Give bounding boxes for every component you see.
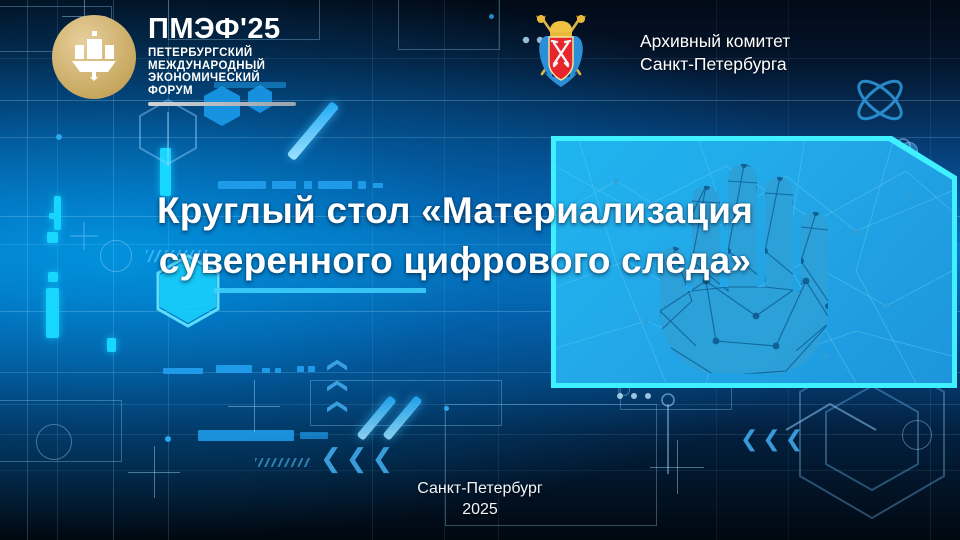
slide-footer-location-year: Санкт-Петербург 2025 — [0, 478, 960, 520]
organization-name: Архивный комитет Санкт-Петербурга — [640, 30, 790, 76]
spief-subtitle: ПЕТЕРБУРГСКИЙ МЕЖДУНАРОДНЫЙ ЭКОНОМИЧЕСКИ… — [148, 47, 296, 97]
chevron-down-group: ❮❮❮ — [328, 357, 348, 419]
presentation-slide: ❮❮❮ ❮❮❮ ❮❮❮ — [0, 0, 960, 540]
spief-wordmark: ПМЭФ'25 — [148, 14, 296, 44]
slide-header: ПМЭФ'25 ПЕТЕРБУРГСКИЙ МЕЖДУНАРОДНЫЙ ЭКОН… — [0, 0, 960, 118]
chevron-left-group-2: ❮❮❮ — [740, 428, 807, 450]
spief-rule — [148, 102, 296, 106]
saint-petersburg-coat-of-arms-icon — [530, 12, 592, 92]
sailing-ship-icon — [68, 30, 120, 82]
chevron-left-group: ❮❮❮ — [320, 445, 397, 471]
spief-logo: ПМЭФ'25 ПЕТЕРБУРГСКИЙ МЕЖДУНАРОДНЫЙ ЭКОН… — [52, 14, 272, 104]
slide-title: Круглый стол «Материализация суверенного… — [60, 186, 850, 286]
